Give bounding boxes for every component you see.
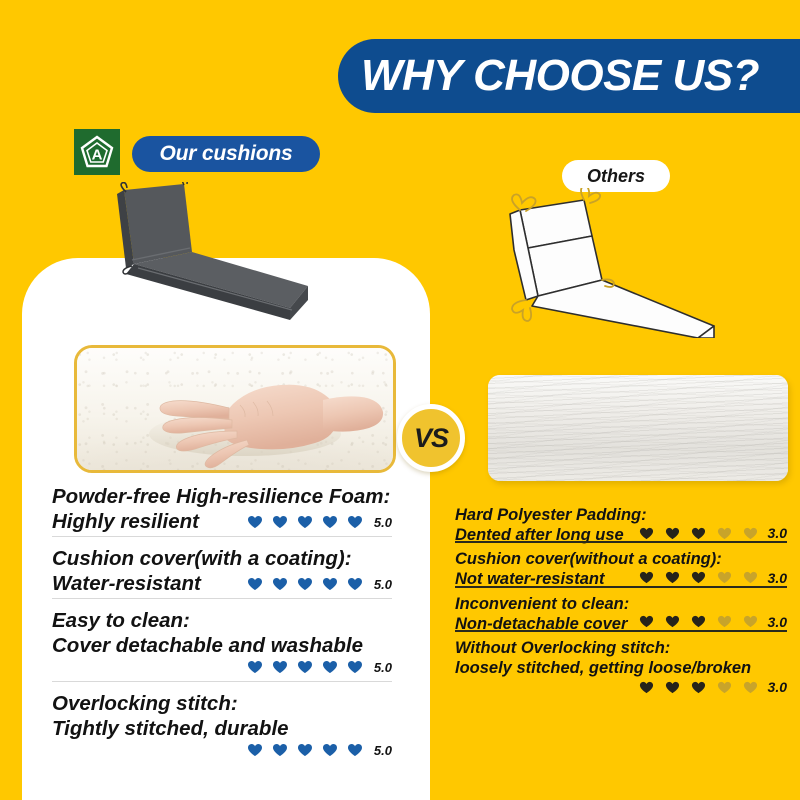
versus-badge: VS xyxy=(397,404,465,472)
heart-icon xyxy=(347,659,363,675)
heart-icon xyxy=(297,742,313,758)
heart-icon xyxy=(247,514,263,530)
title-banner: WHY CHOOSE US? xyxy=(338,39,800,113)
heart-icon xyxy=(639,570,654,585)
rating-score: 5.0 xyxy=(374,743,392,758)
pentagon-a-logo-icon: A xyxy=(74,129,120,175)
heart-icon xyxy=(691,570,706,585)
feature-detail: loosely stitched, getting loose/broken xyxy=(455,658,787,678)
feature-item: Powder-free High-resilience Foam: Highly… xyxy=(52,484,392,536)
feature-title: Without Overlocking stitch: xyxy=(455,638,787,658)
heart-icon xyxy=(717,570,732,585)
feature-item: Hard Polyester Padding: Dented after lon… xyxy=(455,505,787,541)
rating-score: 3.0 xyxy=(768,614,787,630)
heart-icon xyxy=(691,526,706,541)
page-title: WHY CHOOSE US? xyxy=(338,51,782,101)
feature-title: Overlocking stitch: xyxy=(52,691,392,716)
heart-icon xyxy=(665,570,680,585)
feature-detail: Tightly stitched, durable xyxy=(52,716,392,741)
gray-lounge-cushion-image xyxy=(112,182,422,322)
versus-label: VS xyxy=(414,423,448,454)
heart-icon xyxy=(297,514,313,530)
heart-icon xyxy=(347,576,363,592)
svg-text:A: A xyxy=(92,147,103,164)
rating-score: 3.0 xyxy=(768,679,787,695)
heart-rating-others xyxy=(639,570,758,585)
batting-fiber-texture xyxy=(488,375,788,481)
feature-title: Powder-free High-resilience Foam: xyxy=(52,484,392,509)
heart-icon xyxy=(743,614,758,629)
heart-icon xyxy=(743,680,758,695)
feature-item: Easy to clean: Cover detachable and wash… xyxy=(52,598,392,681)
heart-icon xyxy=(717,526,732,541)
heart-rating-others xyxy=(639,526,758,541)
heart-icon xyxy=(272,659,288,675)
feature-item: Without Overlocking stitch: loosely stit… xyxy=(455,630,787,695)
rating-score: 5.0 xyxy=(374,577,392,592)
rating-score: 3.0 xyxy=(768,570,787,586)
heart-rating-others xyxy=(639,614,758,629)
heart-icon xyxy=(639,680,654,695)
heart-icon xyxy=(717,680,732,695)
rating-score: 5.0 xyxy=(374,660,392,675)
feature-item: Inconvenient to clean: Non-detachable co… xyxy=(455,586,787,630)
heart-rating-ours xyxy=(247,576,363,592)
feature-title: Inconvenient to clean: xyxy=(455,594,787,614)
feature-item: Cushion cover(with a coating): Water-res… xyxy=(52,536,392,598)
rating-row: 3.0 xyxy=(455,679,787,695)
heart-icon xyxy=(743,526,758,541)
feature-title: Cushion cover(without a coating): xyxy=(455,549,787,569)
heart-rating-ours xyxy=(247,514,363,530)
heart-icon xyxy=(639,526,654,541)
heart-icon xyxy=(247,742,263,758)
heart-icon xyxy=(717,614,732,629)
hand-pressing-foam-photo xyxy=(74,345,396,473)
heart-icon xyxy=(691,614,706,629)
heart-icon xyxy=(297,576,313,592)
heart-icon xyxy=(297,659,313,675)
infographic-canvas: WHY CHOOSE US? A Our cushions Others xyxy=(0,0,800,800)
feature-item: Overlocking stitch: Tightly stitched, du… xyxy=(52,681,392,764)
feature-title: Hard Polyester Padding: xyxy=(455,505,787,525)
feature-detail: Cover detachable and washable xyxy=(52,633,392,658)
feature-title: Easy to clean: xyxy=(52,608,392,633)
heart-icon xyxy=(322,742,338,758)
feature-title: Cushion cover(with a coating): xyxy=(52,546,392,571)
heart-icon xyxy=(665,680,680,695)
heart-rating-ours xyxy=(247,659,363,675)
heart-icon xyxy=(665,614,680,629)
outline-lounge-cushion-image xyxy=(492,188,792,338)
rating-row: 5.0 xyxy=(52,742,392,758)
heart-icon xyxy=(272,742,288,758)
heart-icon xyxy=(272,514,288,530)
heart-icon xyxy=(639,614,654,629)
rating-score: 3.0 xyxy=(768,525,787,541)
others-label-text: Others xyxy=(587,166,645,187)
heart-icon xyxy=(743,570,758,585)
heart-icon xyxy=(247,659,263,675)
ours-label-pill: Our cushions xyxy=(132,136,320,172)
heart-icon xyxy=(665,526,680,541)
heart-icon xyxy=(347,514,363,530)
hand-illustration xyxy=(77,348,393,470)
rating-row: 5.0 xyxy=(52,659,392,675)
heart-icon xyxy=(272,576,288,592)
heart-icon xyxy=(322,659,338,675)
ours-label-text: Our cushions xyxy=(160,142,293,166)
heart-icon xyxy=(691,680,706,695)
ours-feature-list: Powder-free High-resilience Foam: Highly… xyxy=(52,484,392,764)
others-feature-list: Hard Polyester Padding: Dented after lon… xyxy=(455,505,787,695)
heart-icon xyxy=(322,576,338,592)
feature-item: Cushion cover(without a coating): Not wa… xyxy=(455,541,787,585)
heart-icon xyxy=(347,742,363,758)
rating-score: 5.0 xyxy=(374,515,392,530)
heart-icon xyxy=(322,514,338,530)
heart-rating-others xyxy=(639,680,758,695)
polyester-batting-photo xyxy=(488,375,788,481)
heart-rating-ours xyxy=(247,742,363,758)
heart-icon xyxy=(247,576,263,592)
